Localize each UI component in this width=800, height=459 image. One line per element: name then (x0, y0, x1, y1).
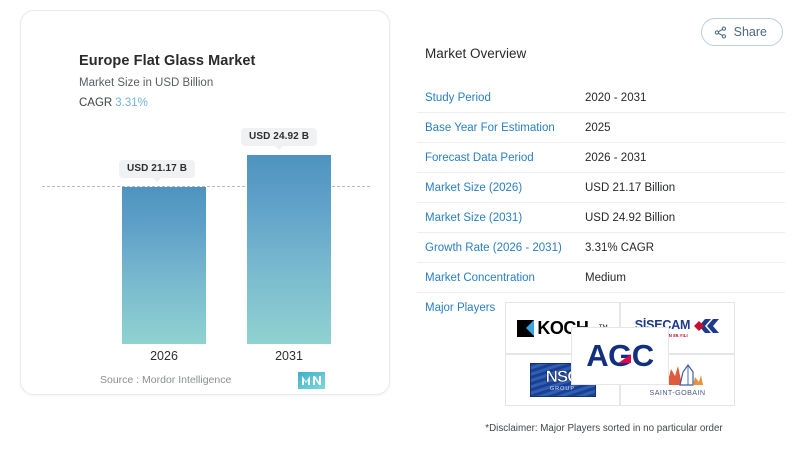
table-row: Market Concentration Medium (417, 263, 785, 293)
table-row: Study Period 2020 - 2031 (417, 83, 785, 113)
disclaimer-text: *Disclaimer: Major Players sorted in no … (424, 423, 784, 434)
table-row: Growth Rate (2026 - 2031) 3.31% CAGR (417, 233, 785, 263)
row-key: Growth Rate (2026 - 2031) (417, 242, 585, 254)
cagr-value: 3.31% (115, 97, 148, 109)
source-label: Source : Mordor Intelligence (100, 374, 231, 386)
row-value: 2020 - 2031 (585, 92, 646, 104)
x-axis-tick-2026: 2026 (122, 349, 206, 363)
chart-card: Europe Flat Glass Market Market Size in … (20, 10, 390, 395)
agc-logo-icon: AGC (586, 338, 653, 374)
row-key: Market Size (2026) (417, 182, 585, 194)
bar-label-2031: USD 24.92 B (241, 128, 317, 146)
chart-title: Europe Flat Glass Market (79, 53, 255, 69)
row-value: 2025 (585, 122, 611, 134)
sisecam-diamond-icon (694, 316, 720, 341)
market-overview-title: Market Overview (425, 46, 526, 61)
x-axis-tick-2031: 2031 (247, 349, 331, 363)
row-value: 2026 - 2031 (585, 152, 646, 164)
bar-label-2026: USD 21.17 B (119, 160, 195, 178)
table-row: Market Size (2026) USD 21.17 Billion (417, 173, 785, 203)
row-value: USD 21.17 Billion (585, 182, 675, 194)
row-value: 3.31% CAGR (585, 242, 654, 254)
bar-2031[interactable] (247, 155, 331, 344)
row-value: Medium (585, 272, 626, 284)
major-players-logo-grid: KOCH . TM ŞİŞECAM İLERLEMEMİZİN 89.YILI (505, 302, 735, 406)
agc-logo-text: AGC (586, 338, 653, 373)
market-overview-table: Study Period 2020 - 2031 Base Year For E… (417, 83, 785, 323)
nsg-logo-sub: GROUP (550, 386, 575, 392)
table-row: Market Size (2031) USD 24.92 Billion (417, 203, 785, 233)
cagr-label: CAGR (79, 97, 112, 109)
table-row: Base Year For Estimation 2025 (417, 113, 785, 143)
row-value: USD 24.92 Billion (585, 212, 675, 224)
market-snapshot-page: Europe Flat Glass Market Market Size in … (0, 0, 800, 459)
bar-chart-plot: USD 21.17 B USD 24.92 B 2026 2031 (22, 121, 390, 346)
share-button[interactable]: Share (701, 18, 783, 46)
chart-subtitle: Market Size in USD Billion (79, 77, 213, 89)
cagr-row: CAGR3.31% (79, 97, 148, 109)
table-row: Forecast Data Period 2026 - 2031 (417, 143, 785, 173)
row-key: Forecast Data Period (417, 152, 585, 164)
share-button-label: Share (734, 25, 767, 39)
mordor-intelligence-logo-icon (298, 372, 325, 389)
bar-2026[interactable] (122, 187, 206, 344)
share-nodes-icon (714, 26, 727, 39)
saint-gobain-logo-text: SAINT-GOBAIN (650, 388, 706, 397)
row-key: Study Period (417, 92, 585, 104)
row-key: Base Year For Estimation (417, 122, 585, 134)
row-key: Market Concentration (417, 272, 585, 284)
player-logo-agc[interactable]: AGC (571, 327, 669, 385)
row-key: Market Size (2031) (417, 212, 585, 224)
